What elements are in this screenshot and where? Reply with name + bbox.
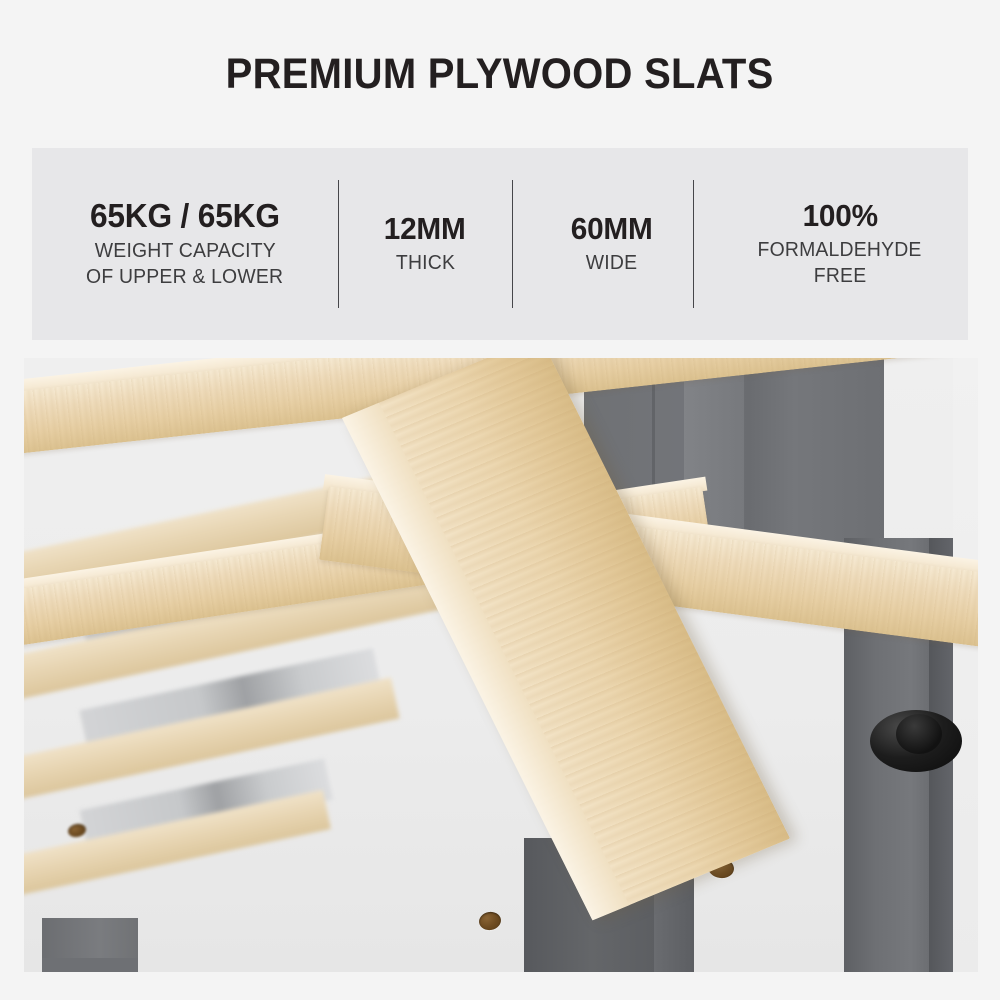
spec-item-formaldehyde-free: 100% FORMALDEHYDE FREE (712, 148, 968, 340)
spec-value: 60MM (571, 212, 653, 246)
spec-value: 12MM (384, 212, 466, 246)
spec-divider-3 (693, 180, 694, 308)
spec-value: 100% (802, 199, 877, 233)
background-wall-right (953, 358, 978, 972)
spec-label-line-1: WEIGHT CAPACITY (94, 239, 275, 265)
metal-post-left-foot (42, 958, 138, 972)
specification-band: 65KG / 65KG WEIGHT CAPACITY OF UPPER & L… (32, 148, 968, 340)
page-title: PREMIUM PLYWOOD SLATS (226, 50, 774, 99)
spec-label-line-1: WIDE (586, 251, 637, 277)
spec-label-line-2: FREE (814, 264, 867, 290)
page-title-section: PREMIUM PLYWOOD SLATS (0, 0, 1000, 148)
spec-item-weight-capacity: 65KG / 65KG WEIGHT CAPACITY OF UPPER & L… (32, 148, 338, 340)
black-knob-inner (896, 714, 942, 754)
spec-value: 65KG / 65KG (90, 198, 280, 234)
product-photo: AUSTRALIAN STANDARD MATTRESS COMPATIBLE (24, 358, 978, 972)
spec-label-line-2: OF UPPER & LOWER (86, 265, 283, 291)
spec-label-line-1: FORMALDEHYDE (758, 238, 922, 264)
spec-label-line-1: THICK (395, 251, 454, 277)
spec-item-thickness: 12MM THICK (338, 148, 512, 340)
spec-item-width: 60MM WIDE (512, 148, 712, 340)
